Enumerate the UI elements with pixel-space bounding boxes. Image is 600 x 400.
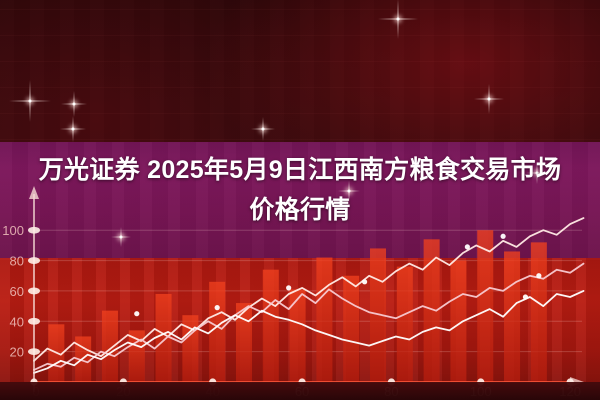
svg-text:60: 60 — [10, 284, 24, 299]
svg-text:40: 40 — [10, 314, 24, 329]
line-series — [34, 218, 584, 373]
page-title-line-1: 万光证券 2025年5月9日江西南方粮食交易市场 — [18, 150, 582, 190]
chart-canvas: 20406080100 204060801001200 万光证券 2025年5月… — [0, 0, 600, 400]
svg-text:20: 20 — [10, 345, 24, 360]
bar-series — [48, 230, 547, 382]
y-axis-tick-labels: 20406080100 — [2, 223, 24, 359]
page-title: 万光证券 2025年5月9日江西南方粮食交易市场 价格行情 — [0, 150, 600, 230]
svg-text:80: 80 — [10, 254, 24, 269]
chart-floor-strip — [0, 382, 600, 400]
page-title-line-2: 价格行情 — [18, 190, 582, 230]
